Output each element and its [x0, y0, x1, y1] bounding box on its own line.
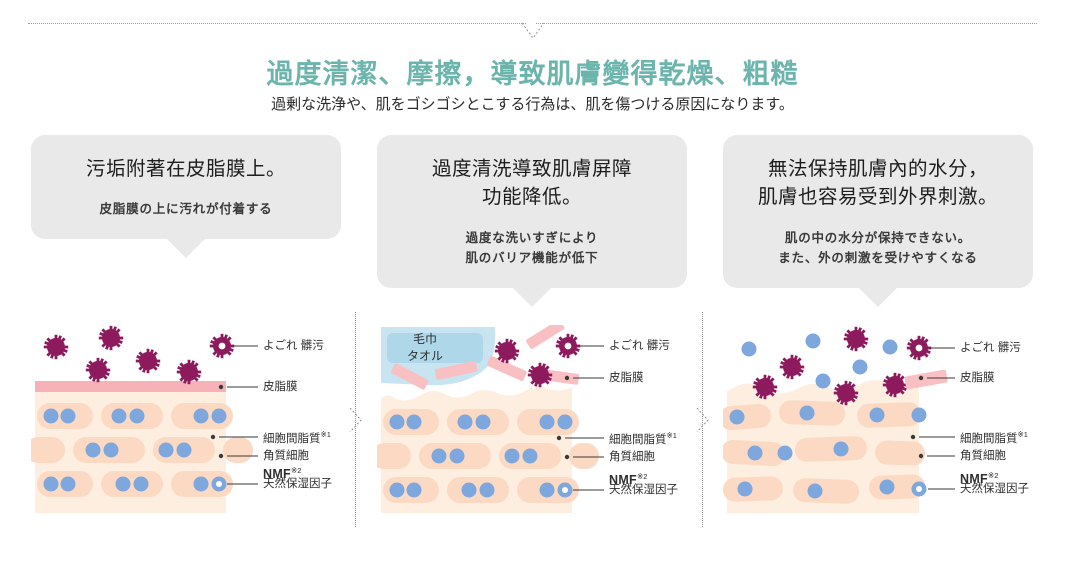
top-divider-notch-icon: [522, 23, 544, 39]
step-1-bubble: 污垢附著在皮脂膜上。 皮脂膜の上に汚れが付着する: [31, 135, 341, 239]
sebum-fragment: [904, 369, 948, 389]
step-3-bubble-subtitle-line2: また、外の刺激を受けやすくなる: [737, 248, 1019, 268]
towel-label-ja: タオル: [407, 348, 443, 365]
step-2-bubble-tail: [512, 287, 552, 307]
step-2-bubble-subtitle: 過度な洗いすぎにより 肌のバリア機能が低下: [391, 228, 673, 268]
legend-dirt-label: よごれ 髒污: [263, 339, 324, 353]
column-divider-2: [696, 312, 710, 527]
step-2-bubble-subtitle-line1: 過度な洗いすぎにより: [391, 228, 673, 248]
step-3-bubble-title-line2: 肌膚也容易受到外界刺激。: [737, 183, 1019, 211]
step-2-diagram: 毛巾 タオル よごれ 髒污 皮脂膜 細胞間脂質※1 角質細胞 NMF※2 天然保…: [377, 325, 687, 525]
step-3-diagram: よごれ 髒污 皮脂膜 細胞間脂質※1 角質細胞 NMF※2 天然保湿因子: [723, 325, 1033, 525]
legend-corneocyte-label: 角質細胞: [960, 449, 1006, 463]
top-divider-right: [536, 23, 1037, 25]
legend-nmf-ja-label: 天然保湿因子: [960, 482, 1029, 496]
step-2-column: 過度清洗導致肌膚屏障 功能降低。 過度な洗いすぎにより 肌のバリア機能が低下: [377, 135, 687, 288]
legend-lipid-label: 細胞間脂質※1: [263, 430, 331, 446]
step-1-bubble-title: 污垢附著在皮脂膜上。: [45, 155, 327, 183]
step-3-bubble: 無法保持肌膚內的水分， 肌膚也容易受到外界刺激。 肌の中の水分が保持できない。 …: [723, 135, 1033, 288]
legend-sebum-label: 皮脂膜: [609, 371, 644, 385]
step-3-bubble-subtitle-line1: 肌の中の水分が保持できない。: [737, 228, 1019, 248]
legend-dirt-label: よごれ 髒污: [609, 339, 670, 353]
step-2-bubble: 過度清洗導致肌膚屏障 功能降低。 過度な洗いすぎにより 肌のバリア機能が低下: [377, 135, 687, 288]
step-2-bubble-title: 過度清洗導致肌膚屏障 功能降低。: [391, 155, 673, 212]
chevron-right-icon: [349, 408, 363, 432]
legend-corneocyte-label: 角質細胞: [263, 449, 309, 463]
legend-dirt-label: よごれ 髒污: [960, 341, 1021, 355]
step-1-column: 污垢附著在皮脂膜上。 皮脂膜の上に汚れが付着する: [31, 135, 341, 239]
step-2-bubble-subtitle-line2: 肌のバリア機能が低下: [391, 248, 673, 268]
step-3-column: 無法保持肌膚內的水分， 肌膚也容易受到外界刺激。 肌の中の水分が保持できない。 …: [723, 135, 1033, 288]
step-3-bubble-title-line1: 無法保持肌膚內的水分，: [737, 155, 1019, 183]
page-subtitle: 過剰な洗浄や、肌をゴシゴシとこする行為は、肌を傷つける原因になります。: [0, 93, 1065, 114]
step-1-bubble-tail: [166, 238, 206, 258]
legend-corneocyte-label: 角質細胞: [609, 450, 655, 464]
infographic-root: 過度清潔、摩擦，導致肌膚變得乾燥、粗糙 過剰な洗浄や、肌をゴシゴシとこする行為は…: [0, 0, 1065, 570]
legend-lipid-label: 細胞間脂質※1: [609, 431, 677, 447]
legend-nmf-ja-label: 天然保湿因子: [263, 477, 332, 491]
towel-label-zh: 毛巾: [407, 331, 443, 348]
step-3-bubble-title: 無法保持肌膚內的水分， 肌膚也容易受到外界刺激。: [737, 155, 1019, 212]
step-1-diagram: よごれ 髒污 皮脂膜 細胞間脂質※1 角質細胞 NMF※2 天然保湿因子: [31, 325, 341, 525]
legend-sebum-label: 皮脂膜: [263, 380, 298, 394]
step-2-bubble-title-line1: 過度清洗導致肌膚屏障: [391, 155, 673, 183]
top-divider-left: [28, 23, 526, 25]
step-1-bubble-subtitle: 皮脂膜の上に汚れが付着する: [45, 199, 327, 219]
legend-lipid-label: 細胞間脂質※1: [960, 430, 1028, 446]
legend-nmf-ja-label: 天然保湿因子: [609, 483, 678, 497]
towel-label: 毛巾 タオル: [407, 331, 443, 366]
step-3-bubble-tail: [858, 287, 898, 307]
step-1-skin-illustration: [31, 325, 341, 525]
page-title: 過度清潔、摩擦，導致肌膚變得乾燥、粗糙: [0, 52, 1065, 91]
step-2-bubble-title-line2: 功能降低。: [391, 183, 673, 211]
column-divider-1: [349, 312, 363, 527]
step-3-bubble-subtitle: 肌の中の水分が保持できない。 また、外の刺激を受けやすくなる: [737, 228, 1019, 268]
legend-sebum-label: 皮脂膜: [960, 371, 995, 385]
chevron-right-icon: [696, 408, 710, 432]
